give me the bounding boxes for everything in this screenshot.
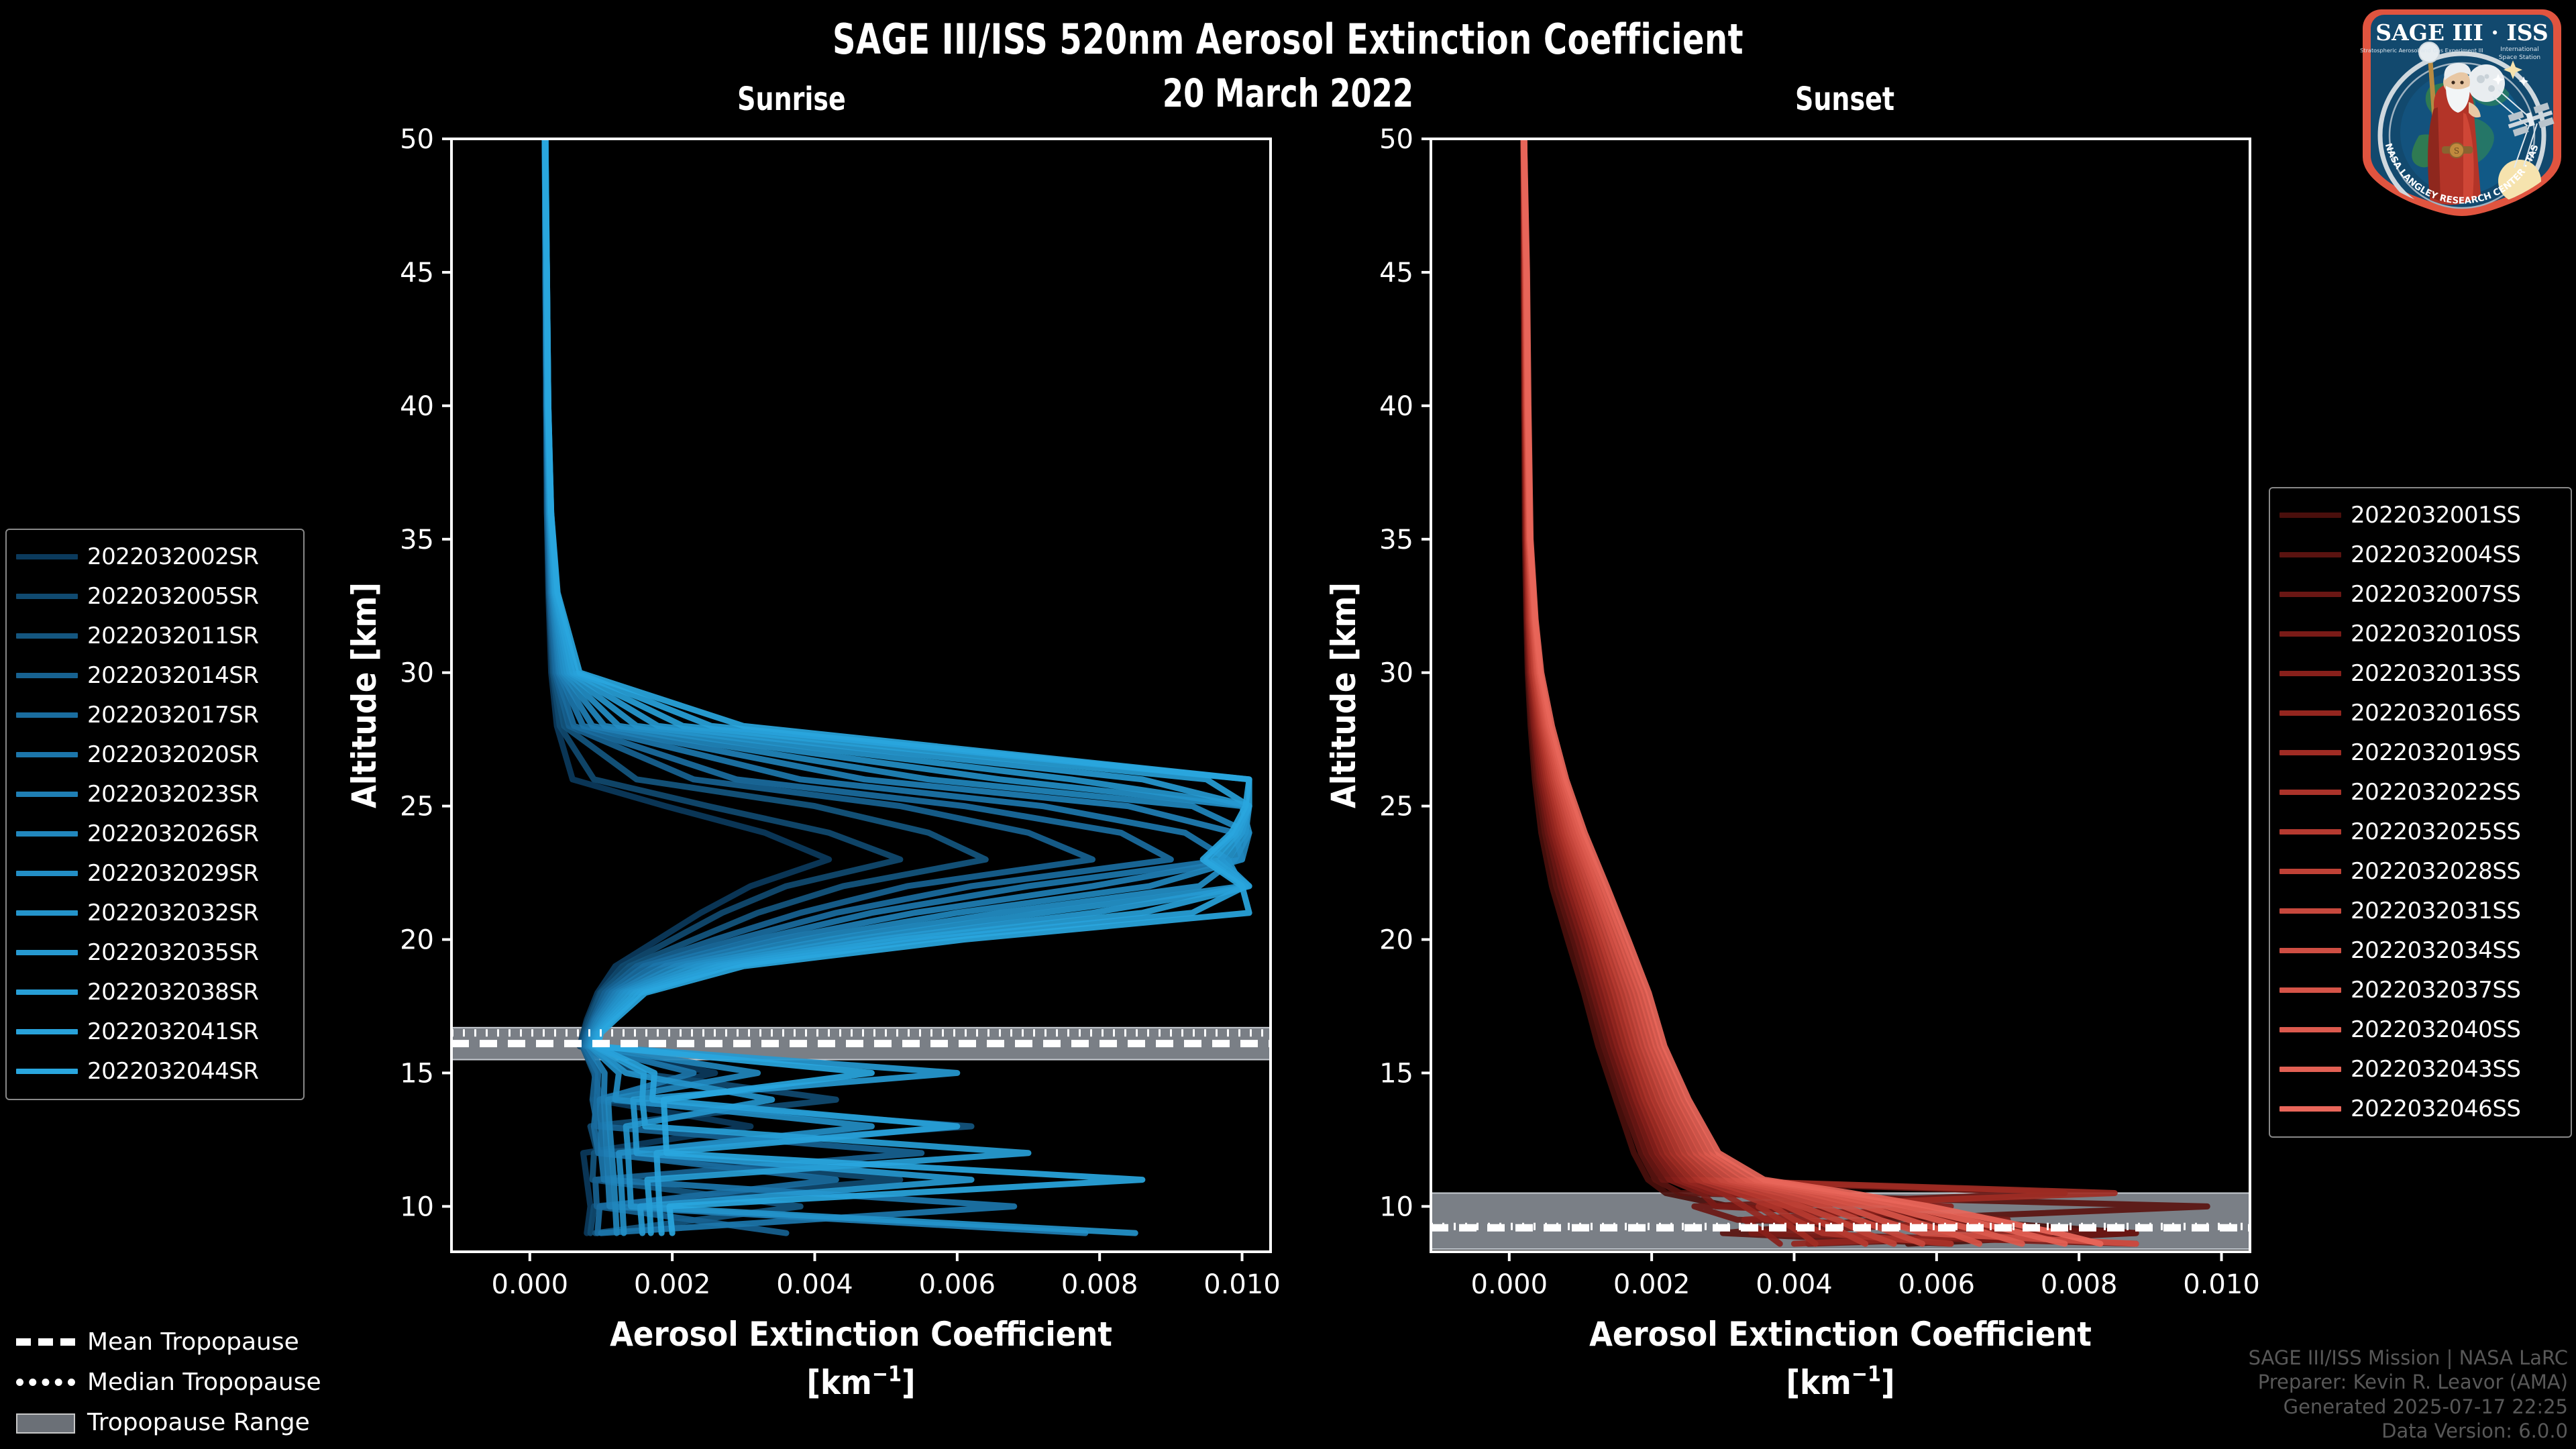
legend-item-sunset-event[interactable]: 2022032025SS xyxy=(2279,812,2561,851)
legend-label-median-tropopause: Median Tropopause xyxy=(87,1368,321,1396)
legend-swatch xyxy=(16,792,78,797)
legend-swatch xyxy=(2279,513,2341,518)
credit-mission: SAGE III/ISS Mission | NASA LaRC xyxy=(2249,1346,2568,1371)
y-tick-label: 25 xyxy=(400,792,434,822)
legend-label: 2022032040SS xyxy=(2351,1016,2520,1043)
legend-label: 2022032001SS xyxy=(2351,502,2520,529)
x-axis-units: [km−1] xyxy=(1786,1361,1894,1402)
legend-item-sunset-event[interactable]: 2022032034SS xyxy=(2279,930,2561,970)
x-tick-label: 0.010 xyxy=(1203,1269,1281,1300)
legend-item-sunrise-event[interactable]: 2022032002SR xyxy=(16,537,294,576)
legend-swatch xyxy=(16,871,78,876)
x-tick-label: 0.000 xyxy=(492,1269,569,1300)
legend-item-sunrise-event[interactable]: 2022032035SR xyxy=(16,932,294,972)
legend-swatch xyxy=(2279,1106,2341,1112)
legend-swatch xyxy=(2279,592,2341,597)
y-tick-label: 35 xyxy=(1379,525,1413,555)
legend-item-sunset-event[interactable]: 2022032031SS xyxy=(2279,891,2561,930)
chart-sunrise-svg: 0.0000.0020.0040.0060.0080.0101015202530… xyxy=(335,101,1288,1295)
legend-swatch xyxy=(2279,710,2341,716)
y-tick-label: 40 xyxy=(400,391,434,422)
y-tick-label: 45 xyxy=(400,258,434,288)
legend-label: 2022032007SS xyxy=(2351,581,2520,608)
credit-generated: Generated 2025-07-17 22:25 xyxy=(2249,1395,2568,1419)
legend-item-sunrise-event[interactable]: 2022032026SR xyxy=(16,814,294,853)
y-tick-label: 20 xyxy=(1379,925,1413,956)
legend-label: 2022032041SR xyxy=(87,1018,259,1045)
y-tick-label: 10 xyxy=(1379,1191,1413,1222)
page-title: SAGE III/ISS 520nm Aerosol Extinction Co… xyxy=(180,15,2396,64)
legend-swatch xyxy=(2279,869,2341,874)
x-tick-label: 0.006 xyxy=(919,1269,996,1300)
legend-swatch xyxy=(2279,1027,2341,1032)
legend-item-sunrise-event[interactable]: 2022032023SR xyxy=(16,774,294,814)
legend-item-sunset-event[interactable]: 2022032040SS xyxy=(2279,1010,2561,1049)
legend-swatch xyxy=(16,989,78,995)
legend-swatch xyxy=(16,673,78,678)
dotted-line-icon xyxy=(16,1375,75,1389)
x-tick-label: 0.010 xyxy=(2183,1269,2260,1300)
legend-item-sunrise-event[interactable]: 2022032017SR xyxy=(16,695,294,735)
legend-item-sunset-event[interactable]: 2022032013SS xyxy=(2279,653,2561,693)
legend-swatch xyxy=(2279,750,2341,755)
svg-text:S: S xyxy=(2454,146,2459,156)
patch-subtitle-right-line1: International xyxy=(2500,46,2538,53)
y-tick-label: 15 xyxy=(400,1058,434,1089)
legend-item-sunrise-event[interactable]: 2022032014SR xyxy=(16,655,294,695)
legend-item-sunset-event[interactable]: 2022032037SS xyxy=(2279,970,2561,1010)
x-axis-title: Aerosol Extinction Coefficient xyxy=(1589,1315,2092,1354)
y-tick-label: 10 xyxy=(400,1191,434,1222)
y-tick-label: 25 xyxy=(1379,792,1413,822)
y-tick-label: 35 xyxy=(400,525,434,555)
legend-label: 2022032031SS xyxy=(2351,898,2520,924)
legend-swatch xyxy=(16,950,78,955)
legend-swatch xyxy=(16,910,78,916)
legend-item-sunrise-event[interactable]: 2022032020SR xyxy=(16,735,294,774)
legend-swatch xyxy=(16,752,78,757)
legend-label: 2022032025SS xyxy=(2351,818,2520,845)
legend-item-sunrise-event[interactable]: 2022032011SR xyxy=(16,616,294,655)
y-axis-title: Altitude [km] xyxy=(1324,582,1363,808)
y-tick-label: 20 xyxy=(400,925,434,956)
legend-label: 2022032028SS xyxy=(2351,858,2520,885)
y-tick-label: 40 xyxy=(1379,391,1413,422)
patch-subtitle-left: Stratospheric Aerosol and Gas Experiment… xyxy=(2360,47,2483,54)
legend-label: 2022032013SS xyxy=(2351,660,2520,687)
legend-label: 2022032011SR xyxy=(87,623,259,649)
legend-swatch xyxy=(2279,631,2341,637)
x-axis-units: [km−1] xyxy=(806,1361,915,1402)
y-tick-label: 50 xyxy=(400,124,434,155)
x-tick-label: 0.006 xyxy=(1898,1269,1976,1300)
credit-preparer: Preparer: Kevin R. Leavor (AMA) xyxy=(2249,1370,2568,1395)
legend-swatch xyxy=(2279,829,2341,835)
legend-label: 2022032005SR xyxy=(87,583,259,610)
legend-item-sunset-event[interactable]: 2022032007SS xyxy=(2279,574,2561,614)
legend-label: 2022032038SR xyxy=(87,979,259,1006)
legend-swatch xyxy=(16,594,78,599)
moon-disc xyxy=(2467,64,2505,102)
chart-sunset: 0.0000.0020.0040.0060.0080.0101015202530… xyxy=(1315,101,2267,1295)
dashed-line-icon xyxy=(16,1335,75,1348)
legend-label: 2022032037SS xyxy=(2351,977,2520,1004)
legend-label: 2022032026SR xyxy=(87,820,259,847)
legend-sunset[interactable]: 2022032001SS2022032004SS2022032007SS2022… xyxy=(2269,487,2572,1138)
legend-item-sunrise-event[interactable]: 2022032038SR xyxy=(16,972,294,1012)
chart-sunset-svg: 0.0000.0020.0040.0060.0080.0101015202530… xyxy=(1315,101,2267,1295)
y-tick-label: 30 xyxy=(400,658,434,689)
x-tick-label: 0.004 xyxy=(776,1269,853,1300)
legend-label: 2022032010SS xyxy=(2351,621,2520,647)
legend-item-sunset-event[interactable]: 2022032028SS xyxy=(2279,851,2561,891)
legend-swatch xyxy=(16,1029,78,1034)
legend-label: 2022032017SR xyxy=(87,702,259,729)
legend-item-sunset-event[interactable]: 2022032046SS xyxy=(2279,1089,2561,1128)
band-swatch-icon xyxy=(16,1415,75,1429)
legend-item-sunrise-event[interactable]: 2022032044SR xyxy=(16,1051,294,1091)
legend-item-sunset-event[interactable]: 2022032010SS xyxy=(2279,614,2561,653)
legend-label: 2022032043SS xyxy=(2351,1056,2520,1083)
legend-item-sunset-event[interactable]: 2022032004SS xyxy=(2279,535,2561,574)
legend-item-sunset-event[interactable]: 2022032043SS xyxy=(2279,1049,2561,1089)
legend-label: 2022032020SR xyxy=(87,741,259,768)
legend-label: 2022032016SS xyxy=(2351,700,2520,727)
legend-label: 2022032044SR xyxy=(87,1058,259,1085)
y-axis-title: Altitude [km] xyxy=(345,582,384,808)
credit-data-version: Data Version: 6.0.0 xyxy=(2249,1419,2568,1444)
x-tick-label: 0.002 xyxy=(634,1269,711,1300)
legend-swatch xyxy=(2279,552,2341,557)
legend-label-tropopause-range: Tropopause Range xyxy=(87,1409,310,1436)
legend-item-sunset-event[interactable]: 2022032019SS xyxy=(2279,733,2561,772)
legend-sunrise[interactable]: 2022032002SR2022032005SR2022032011SR2022… xyxy=(5,529,305,1100)
x-tick-label: 0.000 xyxy=(1471,1269,1548,1300)
legend-swatch xyxy=(16,1069,78,1074)
x-tick-label: 0.004 xyxy=(1756,1269,1833,1300)
legend-label: 2022032004SS xyxy=(2351,541,2520,568)
legend-label: 2022032002SR xyxy=(87,543,259,570)
legend-item-sunrise-event[interactable]: 2022032029SR xyxy=(16,853,294,893)
legend-label: 2022032019SS xyxy=(2351,739,2520,766)
legend-item-tropopause-range: Tropopause Range xyxy=(16,1402,305,1442)
legend-label: 2022032046SS xyxy=(2351,1095,2520,1122)
x-tick-label: 0.002 xyxy=(1613,1269,1690,1300)
legend-label: 2022032014SR xyxy=(87,662,259,689)
legend-label-mean-tropopause: Mean Tropopause xyxy=(87,1328,299,1356)
legend-item-sunrise-event[interactable]: 2022032005SR xyxy=(16,576,294,616)
y-tick-label: 50 xyxy=(1379,124,1413,155)
legend-label: 2022032022SS xyxy=(2351,779,2520,806)
legend-swatch xyxy=(2279,908,2341,914)
legend-label: 2022032029SR xyxy=(87,860,259,887)
y-tick-label: 30 xyxy=(1379,658,1413,689)
legend-swatch xyxy=(16,633,78,639)
sage-iii-iss-mission-patch-icon: S SAGE III · ISS Stratospheric Aerosol a… xyxy=(2355,1,2569,216)
legend-item-sunset-event[interactable]: 2022032016SS xyxy=(2279,693,2561,733)
legend-swatch xyxy=(2279,948,2341,953)
x-tick-label: 0.008 xyxy=(2041,1269,2118,1300)
legend-swatch xyxy=(2279,987,2341,993)
legend-item-sunrise-event[interactable]: 2022032032SR xyxy=(16,893,294,932)
legend-swatch xyxy=(16,712,78,718)
patch-title: SAGE III · ISS xyxy=(2375,19,2548,46)
legend-swatch xyxy=(2279,790,2341,795)
legend-label: 2022032023SR xyxy=(87,781,259,808)
y-tick-label: 45 xyxy=(1379,258,1413,288)
credits-block: SAGE III/ISS Mission | NASA LaRC Prepare… xyxy=(2249,1346,2568,1444)
legend-label: 2022032034SS xyxy=(2351,937,2520,964)
legend-item-sunrise-event[interactable]: 2022032041SR xyxy=(16,1012,294,1051)
legend-label: 2022032035SR xyxy=(87,939,259,966)
figure-canvas: SAGE III/ISS 520nm Aerosol Extinction Co… xyxy=(0,0,2576,1449)
x-tick-label: 0.008 xyxy=(1061,1269,1138,1300)
legend-swatch xyxy=(16,554,78,559)
patch-subtitle-right-line2: Space Station xyxy=(2499,54,2540,61)
y-tick-label: 15 xyxy=(1379,1058,1413,1089)
legend-item-sunset-event[interactable]: 2022032001SS xyxy=(2279,495,2561,535)
plot-background xyxy=(1431,139,2250,1252)
chart-sunrise: 0.0000.0020.0040.0060.0080.0101015202530… xyxy=(335,101,1288,1295)
legend-item-median-tropopause: Median Tropopause xyxy=(16,1362,305,1402)
x-axis-title: Aerosol Extinction Coefficient xyxy=(610,1315,1112,1354)
legend-item-mean-tropopause: Mean Tropopause xyxy=(16,1322,305,1362)
legend-tropopause: Mean Tropopause Median Tropopause Tropop… xyxy=(16,1322,305,1442)
legend-swatch xyxy=(16,831,78,837)
legend-item-sunset-event[interactable]: 2022032022SS xyxy=(2279,772,2561,812)
legend-swatch xyxy=(2279,1067,2341,1072)
legend-swatch xyxy=(2279,671,2341,676)
legend-label: 2022032032SR xyxy=(87,900,259,926)
